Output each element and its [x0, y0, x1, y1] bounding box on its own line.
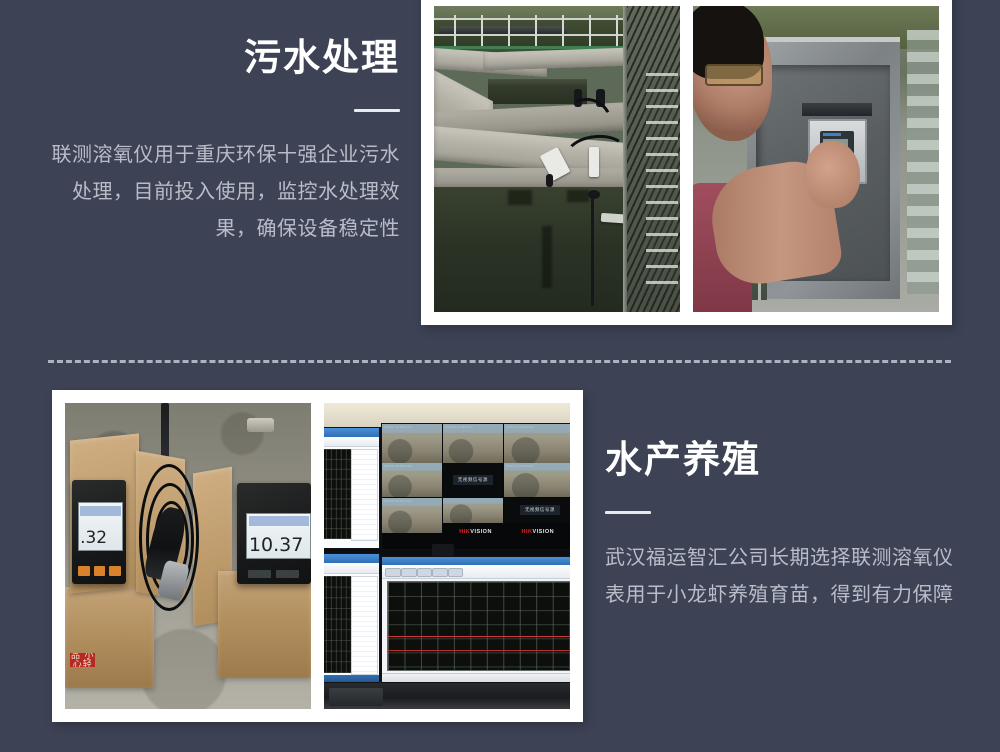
- photo-cardboard-box-left: 易碎品 小心轻放: [65, 587, 154, 688]
- photo-cctv-timestamp: 2018-07-12 09:14:22: [445, 425, 473, 429]
- photo-box-label-text: 易碎品 小心轻放: [70, 653, 95, 667]
- photo-window-toolbar: [324, 563, 379, 574]
- photo-cctv-timestamp: 2018-07-12 09:14:22: [506, 464, 534, 468]
- photo-cctv-timestamp: 2018-07-12 09:14:22: [384, 464, 412, 468]
- photo-window-titlebar: [324, 428, 379, 436]
- photo-monitor-stand: [432, 544, 454, 556]
- photo-meter-left-header: [80, 506, 121, 516]
- photo-cctv-cell: 2018-07-12 09:14:22: [443, 424, 503, 463]
- photo-person-glasses: [705, 64, 763, 86]
- photo-chart-trace: [388, 636, 570, 637]
- photo-wastewater-treatment-basins: [434, 6, 680, 312]
- photo-guardrail: [646, 73, 678, 287]
- photo-chart-area: [324, 576, 352, 674]
- photo-box-label: 易碎品 小心轻放: [70, 653, 95, 667]
- photo-cctv-cell-no-signal: 无视频信号源: [504, 498, 570, 523]
- photo-monitor-lower-left: [324, 553, 380, 684]
- photo-person-hand: [806, 141, 860, 208]
- photo-cctv-brand-logo: HIKVISION: [521, 529, 554, 535]
- photo-meter-right-keys: [248, 570, 300, 578]
- section-wastewater-text: 污水处理 联测溶氧仪用于重庆环保十强企业污水处理，目前投入使用，监控水处理效果，…: [40, 38, 400, 248]
- photo-cctv-timestamp: 2018-07-12 09:14:22: [384, 499, 412, 503]
- section-aquaculture-text: 水产养殖 武汉福运智汇公司长期选择联测溶氧仪表用于小龙虾养殖育苗，得到有力保障: [605, 440, 960, 614]
- photo-cardboard-box-right: [218, 571, 311, 678]
- photo-water-reflection: [508, 190, 533, 205]
- photo-cctv-grid: 2018-07-12 09:14:22 2018-07-12 09:14:22 …: [382, 424, 570, 549]
- section-divider: [48, 360, 951, 363]
- photo-cctv-brand-suffix: VISION: [470, 529, 492, 535]
- section-rule-wastewater: [354, 109, 400, 112]
- photo-cctv-cell: 2018-07-12 09:14:22: [382, 424, 442, 463]
- photo-meter-left-keys: [78, 566, 121, 576]
- photo-trend-software: [382, 557, 570, 682]
- photo-probe-stem: [591, 196, 594, 306]
- section-title-wastewater: 污水处理: [40, 38, 400, 79]
- photo-cctv-timestamp: 2018-07-12 09:14:22: [384, 425, 412, 429]
- product-detail-page: 污水处理 联测溶氧仪用于重庆环保十强企业污水处理，目前投入使用，监控水处理效果，…: [0, 0, 1000, 752]
- photo-group-wastewater: [421, 0, 952, 325]
- photo-data-rows: [351, 449, 378, 542]
- photo-pipe-offcut: [247, 418, 274, 432]
- photo-window-titlebar: [324, 554, 379, 563]
- photo-cctv-cell: [443, 498, 503, 523]
- photo-window-data-list: [324, 554, 379, 683]
- section-rule-aquaculture: [605, 511, 651, 514]
- photo-group-aquaculture: 易碎品 小心轻放 .32: [52, 390, 583, 722]
- photo-meter-right-header: [249, 516, 309, 526]
- photo-fence-post: [623, 6, 627, 312]
- photo-cctv-brand-prefix: HIK: [521, 529, 532, 535]
- photo-window-titlebar: [382, 557, 570, 565]
- photo-basin-water: [434, 187, 631, 312]
- photo-cctv-cell: 2018-07-12 09:14:22: [382, 463, 442, 497]
- photo-basin-wall: [483, 48, 636, 72]
- photo-cctv-no-signal-label: 无视频信号源: [520, 505, 560, 515]
- photo-probe-head: [546, 174, 553, 186]
- photo-meter-right-value: 10.37: [249, 534, 303, 556]
- photo-meter-right: 10.37: [237, 483, 311, 584]
- photo-cctv-cell: 2018-07-12 09:14:22: [504, 424, 570, 463]
- photo-water-reflection: [542, 226, 552, 287]
- photo-cctv-cell-no-signal: 无视频信号源: [443, 463, 503, 497]
- photo-chart-trace: [388, 650, 570, 651]
- photo-window-toolbar: [382, 565, 570, 580]
- photo-cctv-brand-prefix: HIK: [459, 529, 470, 535]
- photo-meter-left-value: .32: [80, 528, 107, 548]
- photo-dissolved-oxygen-meters-on-boxes: 易碎品 小心轻放 .32: [65, 403, 311, 709]
- photo-monitor-trend-chart: [381, 556, 570, 683]
- photo-window-statusbar: [382, 673, 570, 683]
- photo-meter-right-display: 10.37: [246, 513, 311, 559]
- section-body-aquaculture: 武汉福运智汇公司长期选择联测溶氧仪表用于小龙虾养殖育苗，得到有力保障: [605, 540, 960, 614]
- photo-window-statusbar: [324, 675, 379, 683]
- photo-keyboard: [329, 688, 383, 706]
- photo-cctv-brand-logo: HIKVISION: [459, 529, 492, 535]
- photo-chart-plot-area: [387, 581, 570, 671]
- photo-cctv-no-signal-label: 无视频信号源: [453, 475, 493, 485]
- photo-technician-at-control-cabinet: [693, 6, 939, 312]
- photo-basin-water: [488, 79, 586, 103]
- photo-window-toolbar: [324, 437, 379, 448]
- photo-water-reflection: [567, 190, 589, 202]
- photo-monitor-upper-left: [324, 427, 380, 548]
- photo-chart-area: [324, 449, 352, 540]
- section-body-wastewater: 联测溶氧仪用于重庆环保十强企业污水处理，目前投入使用，监控水处理效果，确保设备稳…: [40, 137, 400, 248]
- photo-monitor-cctv: 2018-07-12 09:14:22 2018-07-12 09:14:22 …: [381, 423, 570, 550]
- photo-meter-left: .32: [72, 480, 126, 584]
- photo-side-glass: [907, 30, 939, 293]
- photo-cctv-brand-suffix: VISION: [532, 529, 554, 535]
- photo-din-rail: [802, 103, 872, 116]
- section-title-aquaculture: 水产养殖: [605, 440, 960, 481]
- photo-cctv-cell: 2018-07-12 09:14:22: [504, 463, 570, 497]
- photo-cctv-cell: 2018-07-12 09:14:22: [382, 498, 442, 533]
- photo-window-data-list: [324, 428, 379, 547]
- photo-cctv-timestamp: 2018-07-12 09:14:22: [506, 425, 534, 429]
- photo-data-rows: [351, 576, 378, 676]
- photo-meter-left-display: .32: [78, 502, 123, 551]
- photo-monitoring-workstation: 2018-07-12 09:14:22 2018-07-12 09:14:22 …: [324, 403, 570, 709]
